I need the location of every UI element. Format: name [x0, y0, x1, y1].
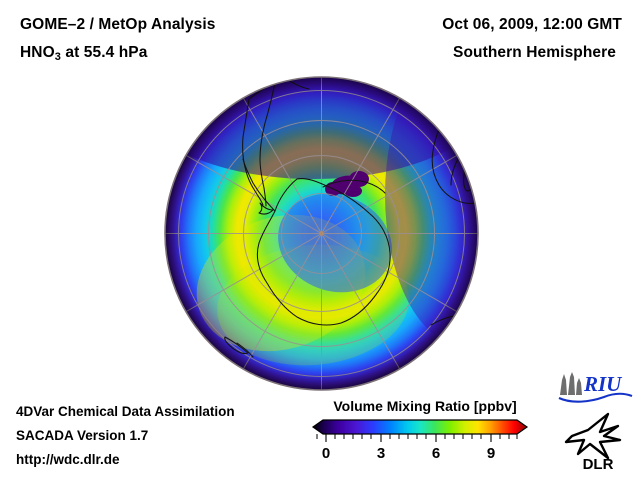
- riu-logo[interactable]: RIU: [556, 371, 634, 405]
- dlr-wordmark: DLR: [583, 456, 614, 472]
- riu-wordmark: RIU: [583, 372, 623, 396]
- wdc-url-label[interactable]: http://wdc.dlr.de: [16, 452, 120, 467]
- colorbar-tick-label: 6: [432, 445, 440, 462]
- orthographic-projection-svg: [163, 75, 480, 392]
- hemisphere-label: Southern Hemisphere: [453, 44, 616, 62]
- dlr-logo[interactable]: DLR: [562, 410, 634, 472]
- colorbar: Volume Mixing Ratio [ppbv]: [305, 398, 545, 478]
- assimilation-label: 4DVar Chemical Data Assimilation: [16, 404, 235, 419]
- datetime-label: Oct 06, 2009, 12:00 GMT: [442, 16, 622, 34]
- version-label: SACADA Version 1.7: [16, 428, 148, 443]
- colorbar-svg[interactable]: 0 3 6 9: [305, 416, 545, 472]
- instrument-title: GOME–2 / MetOp Analysis: [20, 16, 216, 34]
- species-name: HNO: [20, 44, 55, 61]
- colorbar-tick-label: 0: [322, 445, 330, 462]
- species-level: at 55.4 hPa: [61, 44, 148, 61]
- species-title: HNO3 at 55.4 hPa: [20, 44, 147, 63]
- south-pole-marker: [319, 231, 323, 235]
- dlr-mark-icon: [566, 414, 620, 458]
- riu-towers-icon: [560, 372, 582, 395]
- colorbar-tick-label: 3: [377, 445, 385, 462]
- globe-map: [163, 75, 480, 392]
- colorbar-ticks: [317, 434, 517, 442]
- colorbar-ramp[interactable]: [313, 420, 527, 434]
- colorbar-tick-labels: 0 3 6 9: [322, 445, 495, 462]
- colorbar-tick-label: 9: [487, 445, 495, 462]
- colorbar-title: Volume Mixing Ratio [ppbv]: [305, 398, 545, 414]
